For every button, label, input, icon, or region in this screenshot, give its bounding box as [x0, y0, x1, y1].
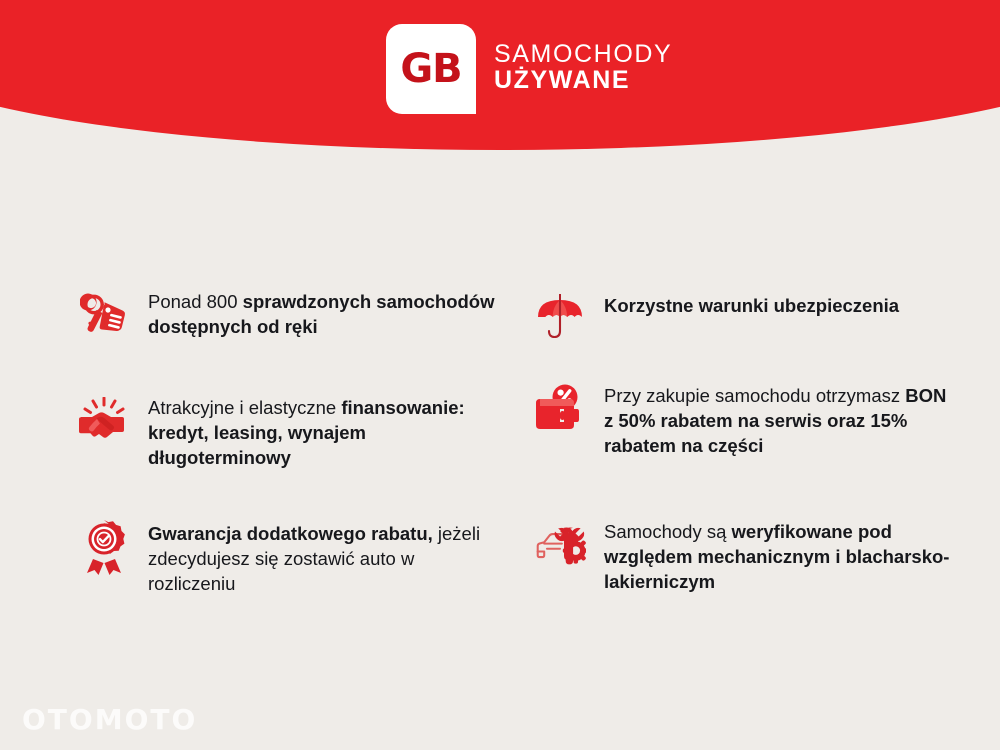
- feature-lead-available-cars: Ponad 800: [148, 291, 243, 312]
- brand-wordmark-line1: SAMOCHODY: [494, 41, 672, 68]
- feature-bold-insurance: Korzystne warunki ubezpieczenia: [604, 295, 899, 316]
- brand-wordmark: SAMOCHODY UŻYWANE: [494, 41, 672, 98]
- feature-lead-verification: Samochody są: [604, 521, 732, 542]
- feature-item-discount-guarantee: Gwarancja dodatkowego rabatu, jeżeli zde…: [78, 518, 498, 596]
- feature-bold-discount-guarantee: Gwarancja dodatkowego rabatu,: [148, 523, 438, 544]
- feature-lead-service-voucher: Przy zakupie samochodu otrzymasz: [604, 385, 905, 406]
- feature-text-verification: Samochody są weryfikowane pod względem m…: [604, 516, 954, 594]
- award-rosette-icon: [78, 518, 130, 576]
- key-tag-icon: [78, 286, 130, 344]
- feature-item-service-voucher: Przy zakupie samochodu otrzymasz BON z 5…: [534, 380, 954, 458]
- otomoto-watermark: OTOMOTO: [22, 703, 197, 736]
- umbrella-icon: [534, 290, 586, 348]
- feature-text-available-cars: Ponad 800 sprawdzonych samochodów dostęp…: [148, 286, 498, 340]
- brand-wordmark-line2: UŻYWANE: [494, 67, 672, 94]
- handshake-icon: [78, 392, 130, 450]
- feature-text-discount-guarantee: Gwarancja dodatkowego rabatu, jeżeli zde…: [148, 518, 498, 596]
- feature-text-service-voucher: Przy zakupie samochodu otrzymasz BON z 5…: [604, 380, 954, 458]
- feature-lead-financing: Atrakcyjne i elastyczne: [148, 397, 341, 418]
- car-wrench-icon: [534, 516, 586, 574]
- feature-text-financing: Atrakcyjne i elastyczne finansowanie: kr…: [148, 392, 498, 470]
- header-banner: GB SAMOCHODY UŻYWANE: [0, 0, 1000, 160]
- feature-item-verification: Samochody są weryfikowane pod względem m…: [534, 516, 954, 594]
- brand-logo: GB SAMOCHODY UŻYWANE: [386, 24, 672, 114]
- feature-item-financing: Atrakcyjne i elastyczne finansowanie: kr…: [78, 392, 498, 470]
- logo-mark-text: GB: [400, 49, 461, 89]
- wallet-percent-icon: [534, 380, 586, 438]
- logo-mark-icon: GB: [386, 24, 476, 114]
- feature-item-available-cars: Ponad 800 sprawdzonych samochodów dostęp…: [78, 286, 498, 344]
- feature-text-insurance: Korzystne warunki ubezpieczenia: [604, 290, 899, 319]
- feature-item-insurance: Korzystne warunki ubezpieczenia: [534, 290, 899, 348]
